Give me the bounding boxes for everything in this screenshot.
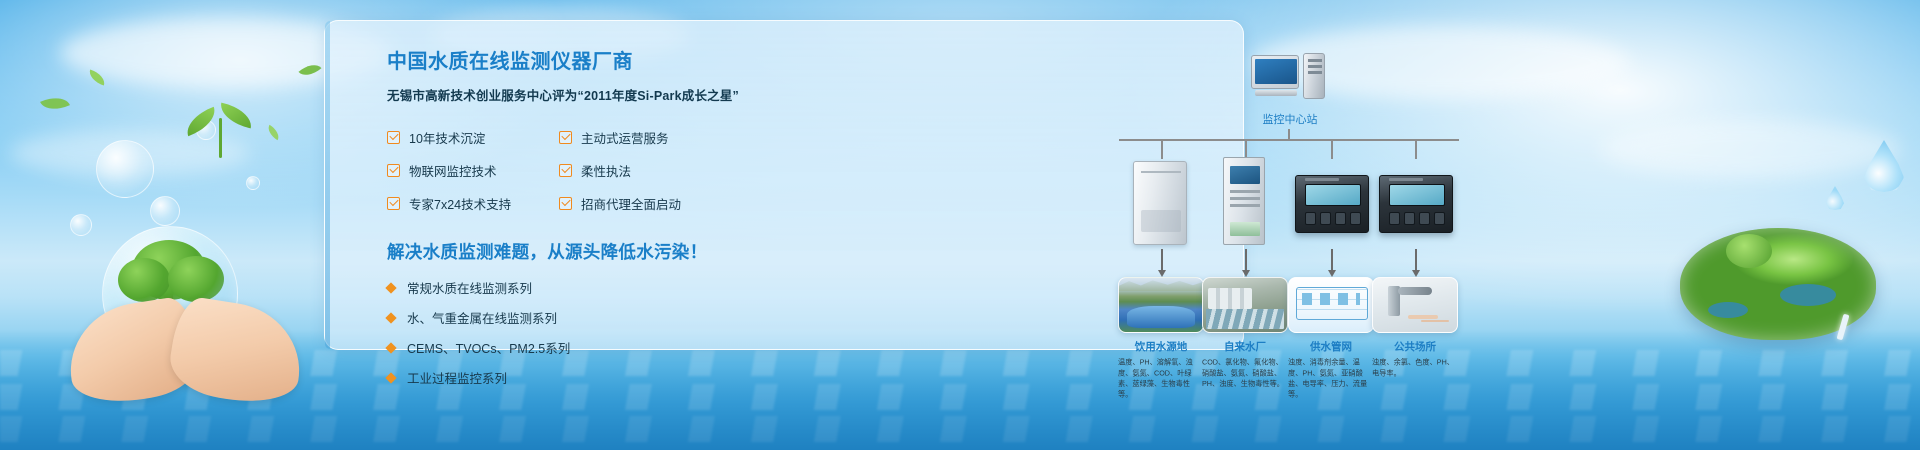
application-card[interactable]: 自来水厂 COD、氯化物、氟化物、硝酸盐、氨氮、硝酸盐、PH、浊度、生物毒性等。	[1202, 277, 1288, 391]
card-title: 自来水厂	[1202, 339, 1288, 354]
card-title: 供水管网	[1288, 339, 1374, 354]
card-description: 浊度、余氯、色度、PH、电导率。	[1372, 358, 1455, 379]
feature-item: 招商代理全面启动	[559, 194, 731, 213]
cloud-decoration	[1600, 120, 1900, 178]
globe-tree	[1726, 234, 1772, 268]
product-series-list: 常规水质在线监测系列 水、气重金属在线监测系列 CEMS、TVOCs、PM2.5…	[387, 278, 747, 387]
series-label: 水、气重金属在线监测系列	[407, 308, 557, 327]
server-tower-icon	[1303, 53, 1325, 99]
feature-label: 10年技术沉淀	[409, 128, 485, 147]
feature-checklist: 10年技术沉淀 主动式运营服务 物联网监控技术 柔性执法 专家7x24技术支持 …	[387, 128, 747, 213]
monitor-base	[1255, 90, 1297, 96]
rack-panel	[1230, 222, 1260, 236]
card-description: COD、氯化物、氟化物、硝酸盐、氨氮、硝酸盐、PH、浊度、生物毒性等。	[1202, 358, 1285, 389]
panel-left-edge	[325, 21, 330, 349]
feature-item: 物联网监控技术	[387, 161, 559, 180]
application-card[interactable]: 供水管网 浊度、消毒剂余量、温度、PH、氨氮、亚硝酸盐、电导率、压力、流量等。	[1288, 277, 1374, 402]
hands-holding-tree-illustration	[60, 220, 310, 400]
hand-right	[165, 294, 308, 409]
controller-lcd	[1389, 184, 1445, 206]
list-item: 工业过程监控系列	[387, 368, 747, 387]
controller-keypad	[1305, 212, 1361, 225]
monitoring-center-computer-icon	[1251, 53, 1327, 105]
connector-drop	[1245, 139, 1247, 159]
check-icon	[559, 131, 572, 144]
connector-drop	[1161, 139, 1163, 159]
feature-item: 主动式运营服务	[559, 128, 731, 147]
feature-item: 10年技术沉淀	[387, 128, 559, 147]
card-title: 公共场所	[1372, 339, 1458, 354]
globe-water-patch	[1708, 302, 1748, 318]
device-analyzer-rack	[1203, 157, 1289, 249]
rack-body	[1223, 157, 1265, 245]
monitoring-topology-diagram: 监控中心站	[1065, 39, 1525, 399]
sprout-leaf	[182, 107, 220, 136]
controller-keypad	[1389, 212, 1445, 225]
series-label: CEMS、TVOCs、PM2.5系列	[407, 338, 570, 357]
feature-label: 物联网监控技术	[409, 161, 497, 180]
connector-drop	[1415, 139, 1417, 159]
page-subtitle: 无锡市高新技术创业服务中心评为“2011年度Si-Park成长之星”	[387, 85, 747, 104]
connector-bus	[1119, 139, 1459, 141]
check-icon	[387, 131, 400, 144]
series-label: 常规水质在线监测系列	[407, 278, 532, 297]
card-description: 浊度、消毒剂余量、温度、PH、氨氮、亚硝酸盐、电导率、压力、流量等。	[1288, 358, 1371, 400]
earth-globe-illustration	[1662, 228, 1892, 358]
controller-lcd	[1305, 184, 1361, 206]
leaf-icon	[265, 125, 282, 141]
thumbnail-public-place	[1372, 277, 1458, 333]
down-arrow-icon	[1245, 249, 1247, 271]
down-arrow-icon	[1415, 249, 1417, 271]
page-title: 中国水质在线监测仪器厂商	[387, 45, 747, 74]
sprout-icon	[186, 104, 256, 160]
controller-brand-strip	[1389, 178, 1423, 181]
check-icon	[559, 197, 572, 210]
feature-label: 招商代理全面启动	[581, 194, 681, 213]
content-panel: 中国水质在线监测仪器厂商 无锡市高新技术创业服务中心评为“2011年度Si-Pa…	[324, 20, 1244, 350]
bubble-decoration	[96, 140, 154, 198]
check-icon	[387, 164, 400, 177]
bubble-decoration	[246, 176, 260, 190]
diamond-bullet-icon	[385, 282, 396, 293]
diamond-bullet-icon	[385, 372, 396, 383]
application-cards: 饮用水源地 温度、PH、溶解氧、浊度、氨氮、COD、叶绿素、蓝绿藻、生物毒性等。…	[1065, 277, 1525, 397]
leaf-icon	[40, 91, 70, 115]
feature-item: 柔性执法	[559, 161, 731, 180]
left-text-column: 中国水质在线监测仪器厂商 无锡市高新技术创业服务中心评为“2011年度Si-Pa…	[387, 45, 747, 398]
check-icon	[559, 164, 572, 177]
diamond-bullet-icon	[385, 342, 396, 353]
monitoring-center-label: 监控中心站	[1215, 111, 1365, 127]
list-item: CEMS、TVOCs、PM2.5系列	[387, 338, 747, 357]
rack-screen	[1230, 166, 1260, 184]
application-card[interactable]: 饮用水源地 温度、PH、溶解氧、浊度、氨氮、COD、叶绿素、蓝绿藻、生物毒性等。	[1118, 277, 1204, 402]
application-card[interactable]: 公共场所 浊度、余氯、色度、PH、电导率。	[1372, 277, 1458, 380]
down-arrow-icon	[1161, 249, 1163, 271]
controller-body	[1295, 175, 1369, 233]
connector-drop	[1331, 139, 1333, 159]
tree-crown	[168, 256, 224, 302]
thumbnail-supply-network	[1288, 277, 1374, 333]
water-drop-icon	[1826, 186, 1844, 210]
device-water-cabinet	[1119, 157, 1205, 249]
section-title: 解决水质监测难题，从源头降低水污染！	[387, 239, 747, 264]
wave-decoration	[0, 416, 1920, 442]
globe-water-patch	[1780, 284, 1836, 306]
device-controller-a	[1289, 157, 1375, 249]
list-item: 水、气重金属在线监测系列	[387, 308, 747, 327]
feature-item: 专家7x24技术支持	[387, 194, 559, 213]
tree-crown	[118, 258, 170, 302]
series-label: 工业过程监控系列	[407, 368, 507, 387]
device-row	[1065, 157, 1525, 249]
sprout-stem	[219, 118, 222, 158]
feature-label: 主动式运营服务	[581, 128, 669, 147]
thumbnail-drinking-water-source	[1118, 277, 1204, 333]
thumbnail-water-plant	[1202, 277, 1288, 333]
down-arrow-icon	[1331, 249, 1333, 271]
controller-body	[1379, 175, 1453, 233]
rack-vents	[1230, 190, 1260, 193]
cabinet-body	[1133, 161, 1187, 245]
feature-label: 柔性执法	[581, 161, 631, 180]
diamond-bullet-icon	[385, 312, 396, 323]
monitor-screen	[1255, 59, 1297, 84]
card-title: 饮用水源地	[1118, 339, 1204, 354]
feature-label: 专家7x24技术支持	[409, 194, 511, 213]
list-item: 常规水质在线监测系列	[387, 278, 747, 297]
sprout-leaf	[217, 103, 254, 129]
monitor-icon	[1251, 55, 1299, 89]
card-description: 温度、PH、溶解氧、浊度、氨氮、COD、叶绿素、蓝绿藻、生物毒性等。	[1118, 358, 1201, 400]
check-icon	[387, 197, 400, 210]
device-controller-b	[1373, 157, 1459, 249]
controller-brand-strip	[1305, 178, 1339, 181]
